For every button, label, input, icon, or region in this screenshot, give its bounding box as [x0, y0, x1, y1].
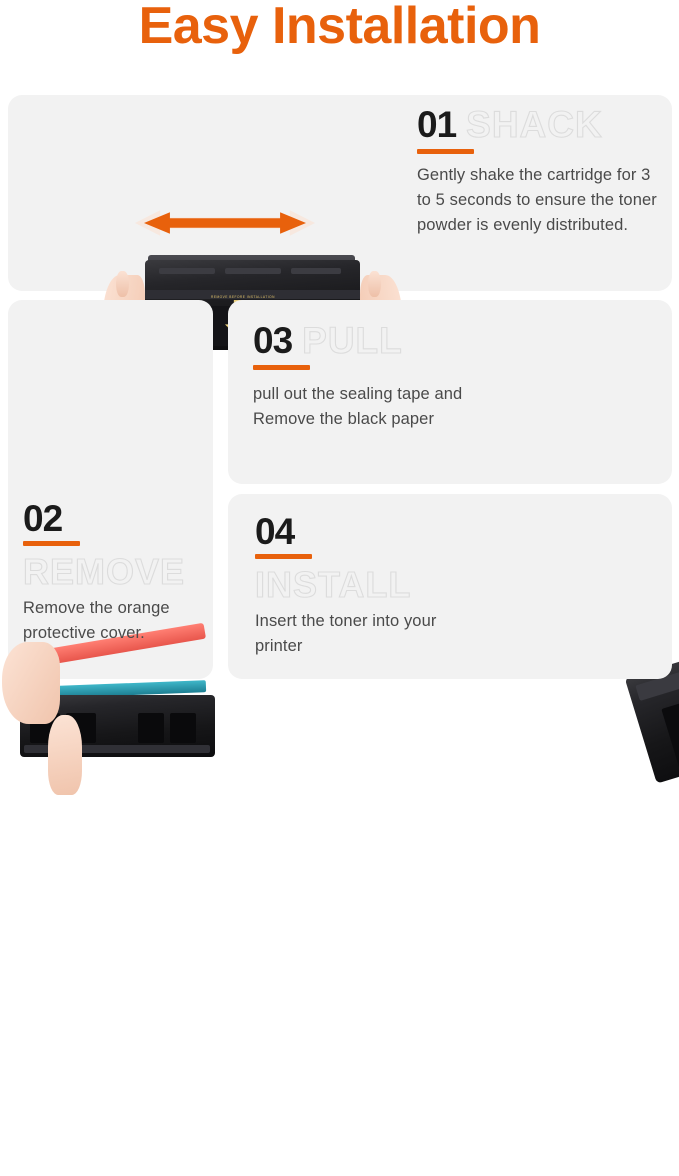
step-02-description: Remove the orange protective cover.: [23, 596, 203, 646]
cartridge-slot: [138, 713, 164, 743]
step-01-heading: 01 SHACK: [417, 106, 667, 144]
left-right-arrow-icon: [144, 208, 306, 238]
step-03-text-block: 03 PULL pull out the sealing tape and Re…: [253, 322, 463, 432]
step-03-accent-rule: [253, 365, 310, 370]
step-04-text-block: 04 INSTALL Insert the toner into your pr…: [255, 513, 455, 659]
left-thumb: [116, 271, 129, 297]
step-02-number: 02: [23, 498, 62, 539]
step-01-accent-rule: [417, 149, 474, 154]
step-04-keyword: INSTALL: [255, 563, 455, 607]
step-03-description: pull out the sealing tape and Remove the…: [253, 382, 463, 432]
step-04-description: Insert the toner into your printer: [255, 609, 455, 659]
hand-gripping-cover: [2, 642, 60, 724]
right-thumb: [368, 271, 381, 297]
step-01-number: 01: [417, 106, 456, 144]
step-03-number: 03: [253, 322, 292, 360]
step-02-artwork: [8, 300, 213, 485]
step-03-heading: 03 PULL: [253, 322, 463, 360]
step-01-text-block: 01 SHACK Gently shake the cartridge for …: [417, 106, 667, 238]
step-04-accent-rule: [255, 554, 312, 559]
page-title: Easy Installation: [0, 0, 679, 54]
step-04-artwork: 58A/CF258A TONER CARTRIDGE: [430, 494, 672, 679]
step-01-artwork: REMOVE BEFORE INSTALLATION: [8, 95, 408, 291]
step-02-keyword: REMOVE: [23, 550, 203, 594]
cartridge-warning-label: REMOVE BEFORE INSTALLATION: [191, 295, 295, 299]
cartridge-ridge: [159, 268, 215, 274]
cartridge-ridge: [291, 268, 341, 274]
supporting-thumb: [48, 715, 82, 795]
black-paper: [661, 682, 679, 768]
cartridge-slot: [170, 713, 196, 743]
step-02-accent-rule: [23, 541, 80, 546]
step-02-text-block: 02 REMOVE Remove the orange protective c…: [23, 500, 203, 646]
cartridge-ridge: [225, 268, 281, 274]
step-03-keyword: PULL: [302, 322, 403, 360]
step-01-keyword: SHACK: [466, 106, 603, 144]
step-04-number: 04: [255, 511, 294, 552]
step-01-description: Gently shake the cartridge for 3 to 5 se…: [417, 163, 667, 238]
